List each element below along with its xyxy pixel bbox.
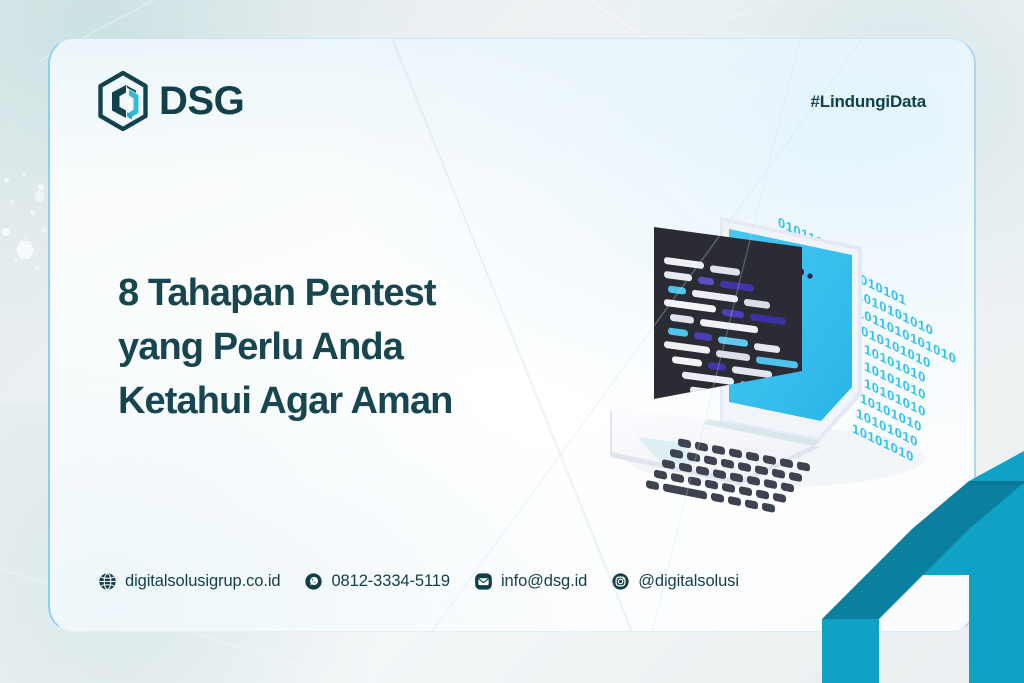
contact-bar: digitalsolusigrup.co.id 0812-3334-5119 (98, 572, 739, 591)
email-icon (474, 572, 493, 591)
dsg-hexagon-cube-logo-icon (96, 71, 150, 131)
brand-wordmark: DSG (159, 81, 244, 121)
page-title-line-1: 8 Tahapan Pentest (118, 267, 588, 321)
code-window (654, 227, 802, 399)
campaign-hashtag: #LindungiData (811, 92, 926, 112)
background-dot-cluster (0, 170, 52, 320)
page-title-line-2: yang Perlu Anda (118, 321, 588, 375)
contact-item-label: digitalsolusigrup.co.id (125, 572, 280, 591)
whatsapp-icon (304, 572, 323, 591)
contact-item-whatsapp[interactable]: 0812-3334-5119 (304, 572, 449, 591)
contact-item-instagram[interactable]: @digitalsolusi (611, 572, 739, 591)
page-title-line-3: Ketahui Agar Aman (118, 375, 588, 429)
page-title: 8 Tahapan Pentest yang Perlu Anda Ketahu… (118, 267, 588, 429)
poster-canvas: DSG #LindungiData 8 Tahapan Pentest yang… (0, 0, 1024, 683)
isometric-staircase-shape-icon (794, 433, 1024, 683)
globe-icon (98, 572, 117, 591)
contact-item-label: 0812-3334-5119 (331, 572, 449, 591)
contact-item-label: @digitalsolusi (638, 572, 739, 591)
brand-lockup[interactable]: DSG (96, 71, 244, 131)
instagram-icon (611, 572, 630, 591)
background-diagonal-line (700, 0, 1024, 31)
contact-item-label: info@dsg.id (501, 572, 587, 591)
contact-item-email[interactable]: info@dsg.id (474, 572, 587, 591)
contact-item-website[interactable]: digitalsolusigrup.co.id (98, 572, 280, 591)
